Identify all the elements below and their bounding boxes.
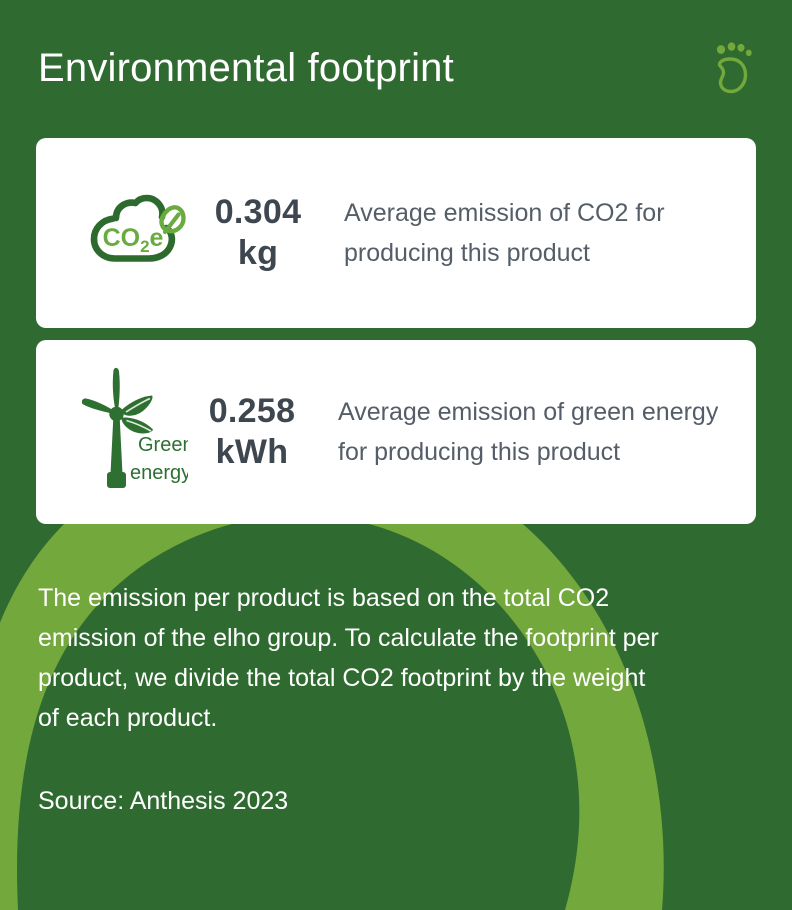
- green-energy-description: Average emission of green energy for pro…: [310, 392, 730, 473]
- co2-description: Average emission of CO2 for producing th…: [316, 193, 730, 274]
- green-energy-value-unit: kWh: [194, 432, 310, 473]
- turbine-icon-label-line1: Green: [138, 434, 188, 456]
- co2e-cloud-icon: CO2e: [86, 194, 190, 272]
- wind-turbine-icon: Green energy: [82, 366, 188, 498]
- green-energy-metric-card: Green energy 0.258 kWh Average emission …: [36, 340, 756, 524]
- turbine-icon-label-line2: energy: [130, 462, 188, 484]
- green-energy-value: 0.258 kWh: [194, 391, 310, 473]
- wind-turbine-icon-wrapper: Green energy: [76, 366, 194, 498]
- methodology-paragraph: The emission per product is based on the…: [38, 578, 668, 738]
- panel-header: Environmental footprint: [0, 0, 792, 130]
- co2-metric-card: CO2e 0.304 kg Average emission of CO2 fo…: [36, 138, 756, 328]
- co2-value-unit: kg: [200, 233, 316, 274]
- leaf-accent: [161, 207, 183, 232]
- co2-value-number: 0.304: [215, 193, 302, 231]
- green-energy-value-number: 0.258: [209, 392, 296, 430]
- footer-text-block: The emission per product is based on the…: [38, 578, 668, 821]
- co2-value: 0.304 kg: [200, 192, 316, 274]
- page-title: Environmental footprint: [38, 40, 454, 90]
- co2e-cloud-icon-wrapper: CO2e: [76, 194, 200, 272]
- environmental-footprint-panel: Environmental footprint: [0, 0, 792, 910]
- footprint-icon: [708, 38, 754, 96]
- co2e-icon-label: CO2e: [103, 224, 164, 256]
- metric-cards: CO2e 0.304 kg Average emission of CO2 fo…: [36, 138, 756, 524]
- source-note: Source: Anthesis 2023: [38, 781, 668, 821]
